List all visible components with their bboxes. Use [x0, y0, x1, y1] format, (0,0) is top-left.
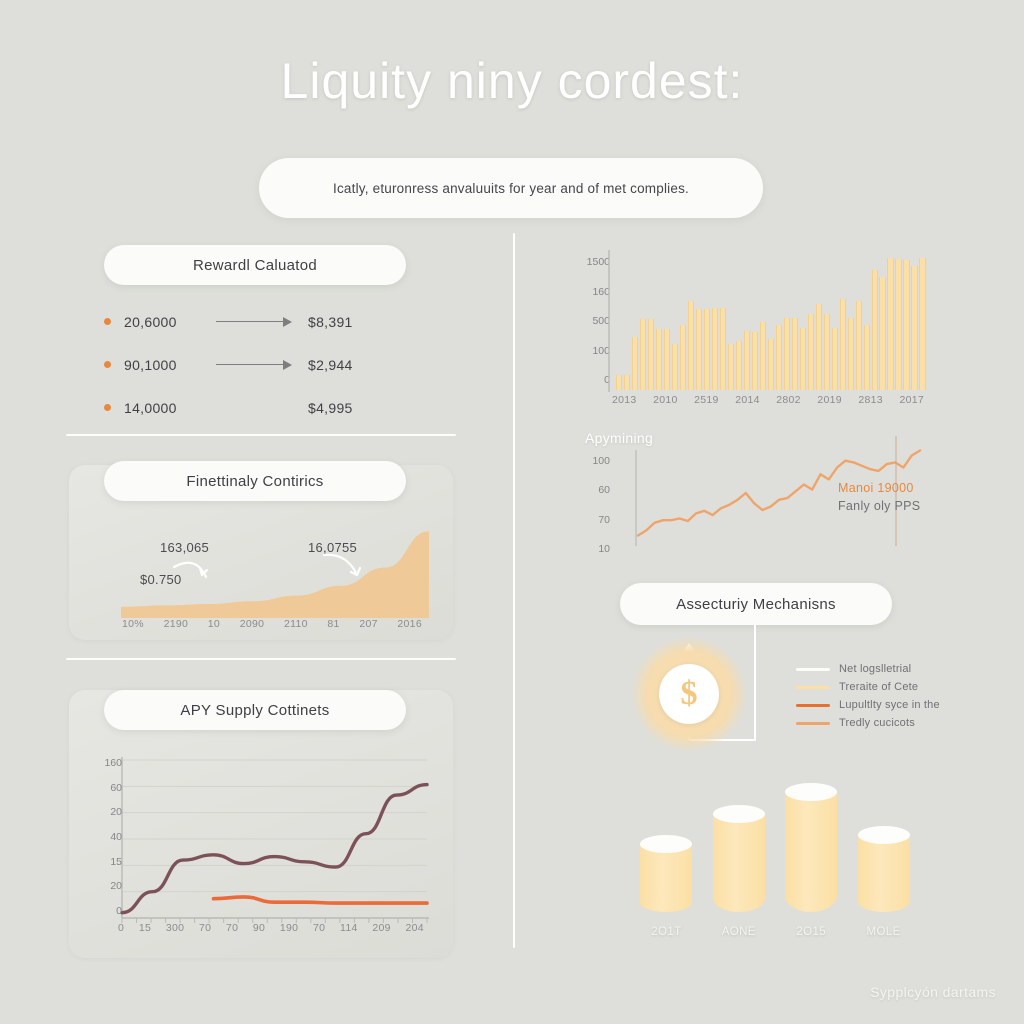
bar	[632, 337, 638, 390]
apy-y-tick: 160	[104, 757, 122, 769]
bar	[664, 329, 670, 390]
bar-x-tick: 2019	[817, 394, 842, 406]
cylinder-cap	[785, 783, 837, 801]
bar	[840, 299, 846, 390]
financial-x-tick: 2016	[397, 618, 422, 630]
bar	[784, 318, 790, 390]
apy-y-tick: 40	[110, 831, 122, 843]
financial-x-tick: 81	[327, 618, 339, 630]
bar	[680, 325, 686, 390]
reward-output-value: $2,944	[308, 357, 353, 373]
financial-x-tick: 207	[359, 618, 377, 630]
cylinder-cap	[858, 826, 910, 844]
legend-swatch-icon	[796, 668, 830, 671]
bar	[895, 259, 901, 390]
dollar-symbol: $	[681, 677, 698, 711]
arrow-right-icon	[216, 359, 296, 371]
apy-y-axis: 16060204015200	[88, 757, 122, 917]
legend-item: Net logslletrial	[796, 660, 976, 678]
bar	[728, 344, 734, 390]
bar	[656, 329, 662, 390]
mechanism-title-pill: Assecturiy Mechanisns	[620, 583, 892, 625]
bar	[768, 339, 774, 390]
cylinder-cap	[713, 805, 765, 823]
cylinder-label: 2O1T	[640, 926, 692, 938]
legend-label: Tredly cucicots	[839, 717, 915, 729]
legend-swatch-icon	[796, 686, 830, 689]
mechanism-connector-vertical	[754, 625, 756, 741]
bar	[696, 309, 702, 390]
cylinder-bar: AONE	[713, 814, 765, 912]
legend: Net logslletrialTreraite of CeteLupultlt…	[796, 660, 976, 732]
dollar-coin-icon: $	[659, 664, 719, 724]
reward-output-value: $8,391	[308, 314, 353, 330]
apy-y-tick: 20	[110, 806, 122, 818]
legend-label: Net logslletrial	[839, 663, 911, 675]
apy-x-tick: 190	[280, 922, 298, 934]
bar	[919, 258, 925, 390]
vertical-divider	[513, 233, 515, 948]
financial-card-title: Finettinaly Contirics	[186, 473, 323, 490]
financial-card-title-pill: Finettinaly Contirics	[104, 461, 406, 501]
reward-card-title-pill: Rewardl Caluatod	[104, 245, 406, 285]
financial-x-tick: 2110	[284, 618, 308, 630]
mechanism-title: Assecturiy Mechanisns	[676, 596, 836, 613]
bar	[704, 309, 710, 390]
apy-y-tick: 20	[110, 880, 122, 892]
bar	[648, 319, 654, 390]
bar	[824, 314, 830, 390]
reward-row: 20,6000 $8,391	[104, 300, 434, 343]
bar	[688, 301, 694, 390]
financial-x-tick: 10%	[122, 618, 144, 630]
bar	[640, 319, 646, 390]
cylinder-label: MOLE	[858, 926, 910, 938]
apy-x-tick: 70	[226, 922, 238, 934]
apy-x-tick: 70	[313, 922, 325, 934]
bar	[672, 344, 678, 390]
reward-card-title: Rewardl Caluatod	[193, 257, 317, 274]
line-chart-annotation-primary: Manoi 19000	[838, 481, 914, 495]
apy-y-tick: 60	[110, 782, 122, 794]
bar-x-tick: 2802	[776, 394, 801, 406]
bar-x-tick: 2013	[612, 394, 637, 406]
reward-input-value: 20,6000	[124, 314, 210, 330]
subtitle-text: Icatly, eturonress anvaluuits for year a…	[333, 181, 689, 196]
legend-item: Tredly cucicots	[796, 714, 976, 732]
bar-chart-axis-line	[608, 250, 610, 392]
footer-note: Sypplcyón dartams	[0, 984, 996, 1000]
bar	[744, 331, 750, 390]
legend-item: Lupultlty syce in the	[796, 696, 976, 714]
bar	[776, 325, 782, 390]
cylinder-label: AONE	[713, 926, 765, 938]
cylinder-bar: 2O1T	[640, 844, 692, 912]
financial-x-axis: 10%21901020902110812072016	[122, 618, 422, 630]
apy-card-title: APY Supply Cottinets	[180, 702, 329, 719]
bar-x-tick: 2017	[899, 394, 924, 406]
legend-swatch-icon	[796, 722, 830, 725]
financial-x-tick: 10	[208, 618, 220, 630]
cylinder-bar-chart: 2O1TAONE2O15MOLE	[620, 780, 930, 950]
infographic-canvas: Liquity niny cordest: Icatly, eturonress…	[0, 0, 1024, 1024]
bar-chart-x-axis: 20132010251920142802201928132017	[612, 394, 924, 406]
bar	[760, 322, 766, 390]
bullet-dot-icon	[104, 404, 111, 411]
bar-x-tick: 2519	[694, 394, 719, 406]
bar	[864, 325, 870, 390]
reward-row: 14,0000 $4,995	[104, 386, 434, 429]
financial-annotation-arrows	[69, 525, 453, 615]
bar	[800, 328, 806, 390]
bar	[848, 318, 854, 390]
bar	[736, 341, 742, 390]
cylinder-body	[858, 835, 910, 912]
cylinder-body	[640, 844, 692, 912]
legend-label: Treraite of Cete	[839, 681, 918, 693]
cylinder-body	[785, 792, 837, 912]
cylinder-body	[713, 814, 765, 912]
bar-x-tick: 2014	[735, 394, 760, 406]
apy-y-tick: 15	[110, 856, 122, 868]
arrow-right-icon	[216, 316, 296, 328]
bar	[712, 308, 718, 390]
bar	[872, 270, 878, 390]
apy-x-tick: 70	[199, 922, 211, 934]
line-chart-y-axis: 100607010	[578, 455, 610, 555]
apy-x-tick: 209	[372, 922, 390, 934]
cylinder-label: 2O15	[785, 926, 837, 938]
bar	[616, 375, 622, 390]
bar	[887, 258, 893, 390]
legend-item: Treraite of Cete	[796, 678, 976, 696]
reward-output-value: $4,995	[308, 400, 353, 416]
legend-label: Lupultlty syce in the	[839, 699, 940, 711]
bar	[792, 318, 798, 390]
cylinder-bar: MOLE	[858, 835, 910, 912]
bar	[832, 328, 838, 390]
apy-y-tick: 0	[116, 905, 122, 917]
bullet-dot-icon	[104, 318, 111, 325]
horizontal-divider-bottom	[66, 658, 456, 660]
bar	[879, 277, 885, 390]
bar	[752, 332, 758, 390]
reward-rows: 20,6000 $8,391 90,1000 $2,944 14,0000 $4…	[104, 300, 434, 429]
apy-x-axis: 01530070709019070114209204	[118, 922, 424, 934]
bar	[856, 301, 862, 390]
apy-x-tick: 0	[118, 922, 124, 934]
legend-swatch-icon	[796, 704, 830, 707]
bar-y-tick: 1500	[587, 256, 610, 268]
horizontal-divider-top	[66, 434, 456, 436]
apy-card-title-pill: APY Supply Cottinets	[104, 690, 406, 730]
bar	[903, 260, 909, 390]
cylinder-bar: 2O15	[785, 792, 837, 912]
bar	[624, 375, 630, 390]
financial-x-tick: 2190	[164, 618, 189, 630]
bar	[816, 304, 822, 390]
apy-x-tick: 90	[253, 922, 265, 934]
apy-x-tick: 15	[139, 922, 151, 934]
reward-row: 90,1000 $2,944	[104, 343, 434, 386]
apy-x-tick: 300	[166, 922, 184, 934]
bar-chart-y-axis: 15001605001000	[578, 256, 610, 386]
apy-x-tick: 204	[405, 922, 423, 934]
line-chart-annotation-secondary: Fanly oly PPS	[838, 499, 920, 513]
subtitle-pill: Icatly, eturonress anvaluuits for year a…	[259, 158, 763, 218]
bar-x-tick: 2813	[858, 394, 883, 406]
bar	[911, 266, 917, 390]
bar	[808, 314, 814, 390]
bar	[720, 308, 726, 390]
apy-x-tick: 114	[340, 922, 358, 934]
bullet-dot-icon	[104, 361, 111, 368]
bar-x-tick: 2010	[653, 394, 678, 406]
financial-x-tick: 2090	[240, 618, 265, 630]
page-title: Liquity niny cordest:	[0, 52, 1024, 110]
reward-input-value: 90,1000	[124, 357, 210, 373]
bar-chart-bars	[616, 250, 926, 390]
reward-input-value: 14,0000	[124, 400, 210, 416]
